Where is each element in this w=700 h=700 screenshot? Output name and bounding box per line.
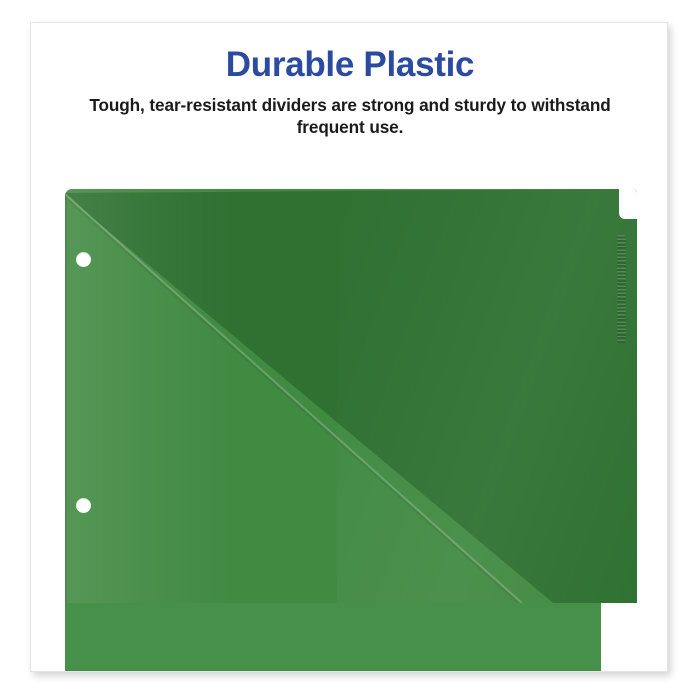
page-subtitle: Tough, tear-resistant dividers are stron… <box>60 94 640 139</box>
punch-hole-bottom <box>76 498 91 513</box>
bottom-sheet-ledge <box>65 603 601 672</box>
product-image-canvas: Durable Plastic Tough, tear-resistant di… <box>0 0 700 700</box>
page-title: Durable Plastic <box>31 47 668 84</box>
reinforced-edge-strip-icon <box>617 235 626 343</box>
plastic-divider-product <box>65 189 668 672</box>
product-card: Durable Plastic Tough, tear-resistant di… <box>30 22 668 672</box>
top-right-notch <box>619 189 637 219</box>
header-block: Durable Plastic Tough, tear-resistant di… <box>31 47 668 138</box>
bottom-right-step <box>601 603 637 672</box>
punch-hole-top <box>76 252 91 267</box>
green-divider-sheet <box>65 189 637 672</box>
left-fold-shadow <box>65 189 68 672</box>
